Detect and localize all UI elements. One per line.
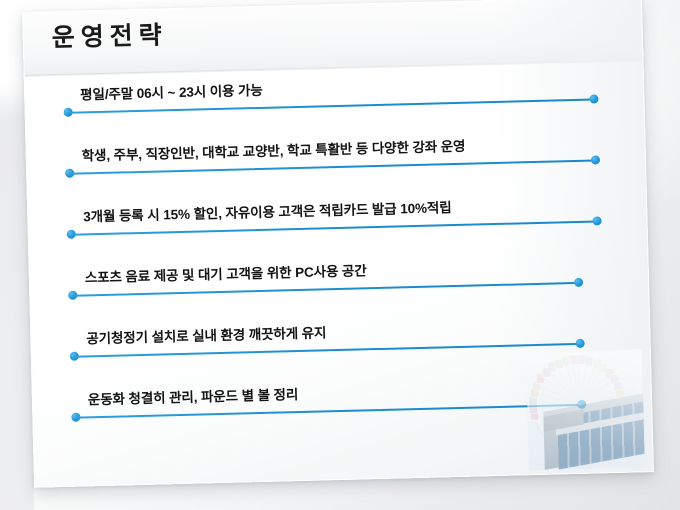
ferris-wheel-photo — [526, 349, 645, 470]
bullet-text: 학생, 주부, 직장인반, 대학교 교양반, 학교 특활반 등 다양한 강좌 운… — [82, 139, 466, 165]
slide-canvas: 운영전략 평일/주말 06시 ~ 23시 이용 가능 학생, 주부, 직장인반,… — [0, 0, 680, 510]
title-band: 운영전략 — [23, 0, 642, 75]
bullet-text: 3개월 등록 시 15% 할인, 자유이용 고객은 적립카드 발급 10%적립 — [83, 200, 452, 226]
bullet-text: 스포츠 음료 제공 및 대기 고객을 위한 PC사용 공간 — [85, 263, 367, 286]
page-title: 운영전략 — [51, 23, 168, 51]
bullet-text: 공기청정기 설치로 실내 환경 깨끗하게 유지 — [86, 325, 326, 347]
bullet-text: 평일/주말 06시 ~ 23시 이용 가능 — [80, 83, 263, 104]
bullet-end-dot-icon — [591, 155, 600, 164]
bullet-text: 운동화 청결히 관리, 파운드 별 볼 정리 — [88, 387, 299, 409]
bullet-end-dot-icon — [589, 94, 598, 103]
bullet-end-dot-icon — [574, 278, 583, 287]
slide-card: 운영전략 평일/주말 06시 ~ 23시 이용 가능 학생, 주부, 직장인반,… — [22, 0, 654, 488]
bullet-end-dot-icon — [576, 339, 585, 348]
bullet-end-dot-icon — [592, 216, 601, 225]
